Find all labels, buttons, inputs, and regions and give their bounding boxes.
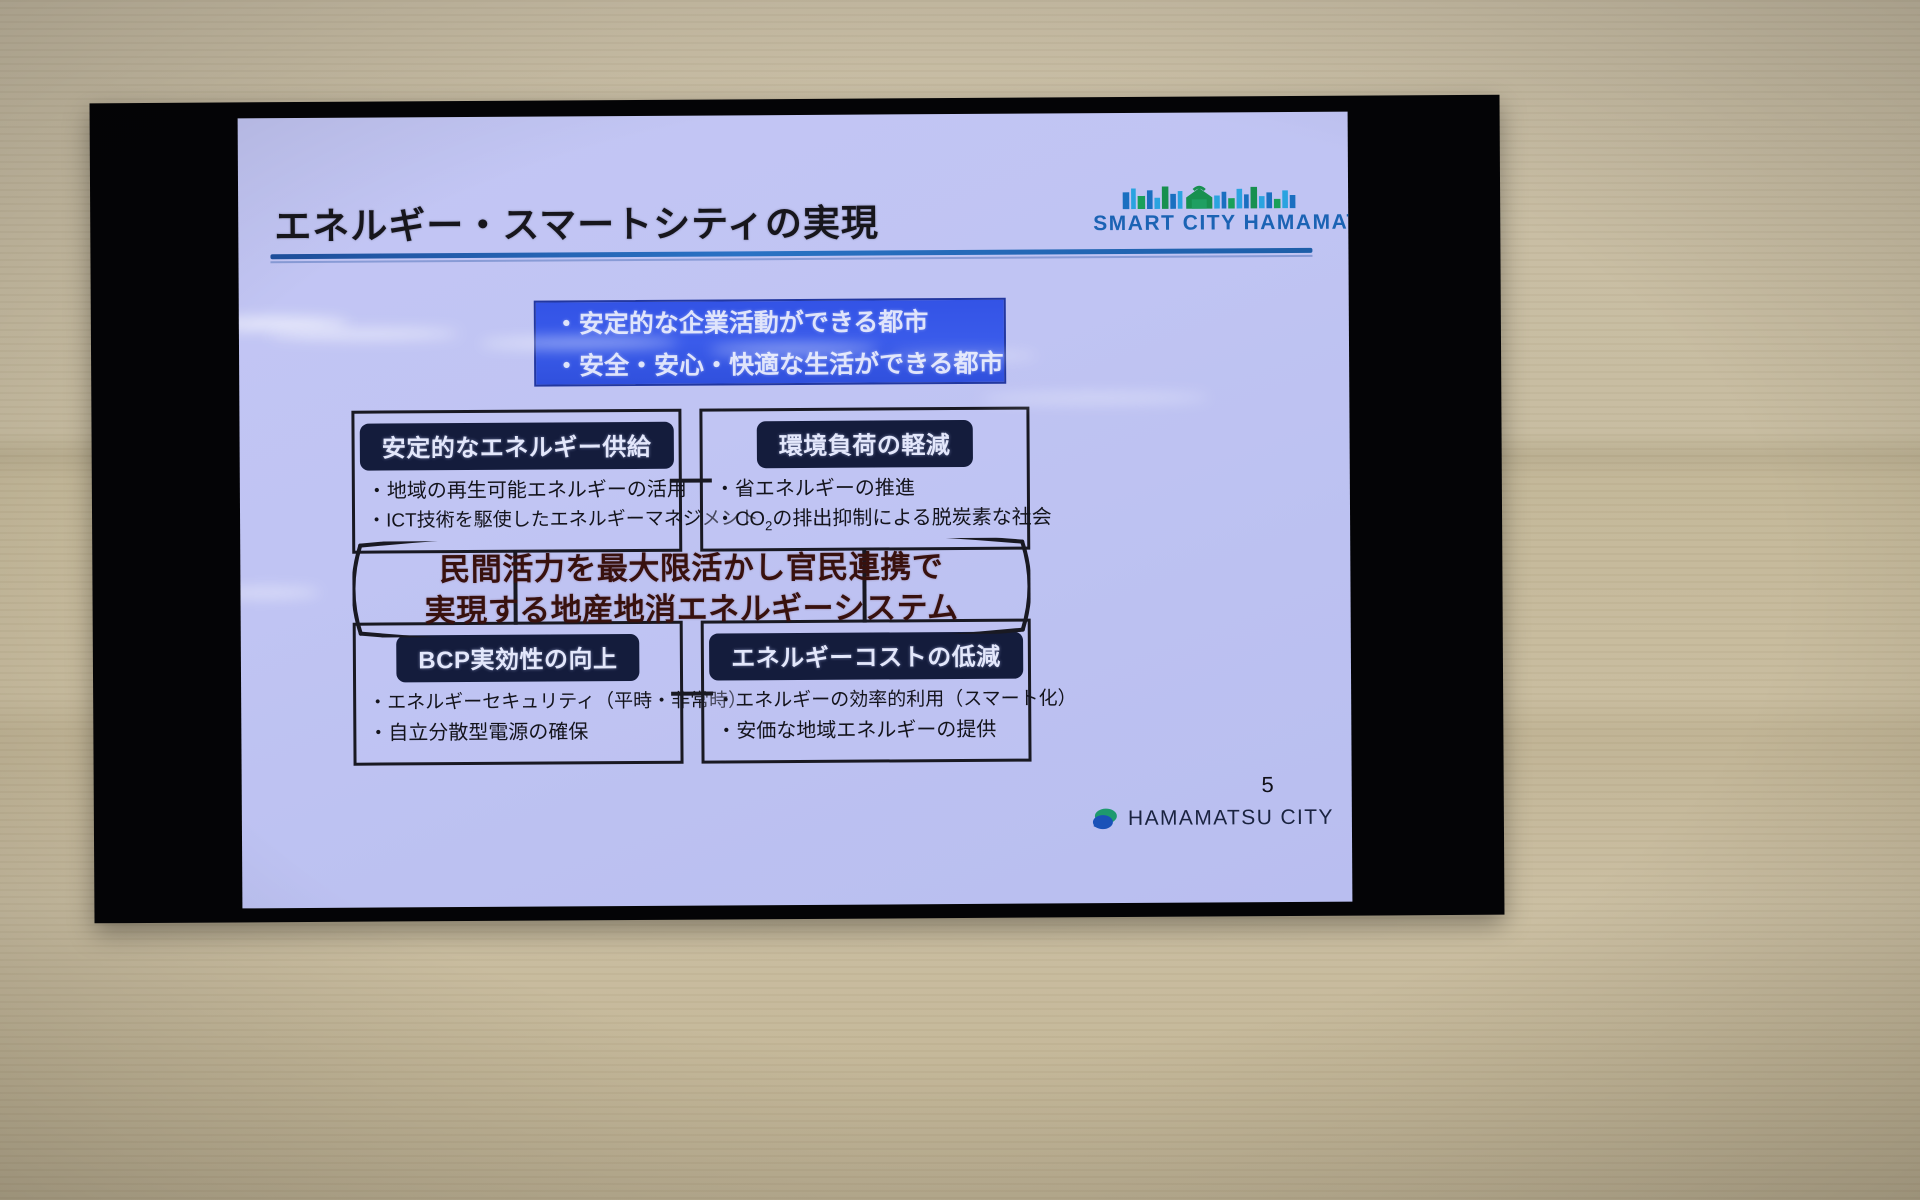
quadrant-heading: BCP実効性の向上 — [396, 634, 639, 682]
smart-city-logo-text: SMART CITY HAMAMATSU — [1093, 211, 1328, 236]
quadrant-body: ・エネルギーの効率的利用（スマート化） ・安価な地域エネルギーの提供 — [716, 685, 1020, 747]
bullet-item: ・エネルギーセキュリティ（平時・非常時） — [368, 687, 672, 719]
hamamatsu-city-text: HAMAMATSU CITY — [1128, 806, 1334, 831]
display-screen: エネルギー・スマートシティの実現 — [90, 95, 1505, 924]
bullet-item: ・ICT技術を駆使したエネルギーマネジメント — [367, 505, 671, 537]
bullet-item: ・自立分散型電源の確保 — [368, 717, 672, 749]
hamamatsu-city-footer-logo: HAMAMATSU CITY — [1091, 806, 1334, 831]
center-line-2: 実現する地産地消エネルギーシステム — [352, 587, 1030, 632]
screen-glare — [238, 588, 321, 598]
bullet-item: ・CO2の排出抑制による脱炭素な社会 — [715, 503, 1019, 542]
center-statement-text: 民間活力を最大限活かし官民連携で 実現する地産地消エネルギーシステム — [352, 546, 1030, 632]
connector-bottom-horizontal — [671, 692, 713, 696]
photograph-of-projected-slide: エネルギー・スマートシティの実現 — [0, 0, 1920, 1200]
quadrant-stable-energy-supply: 安定的なエネルギー供給 ・地域の再生可能エネルギーの活用 ・ICT技術を駆使した… — [351, 409, 682, 554]
banner-line-1: ・安定的な企業活動ができる都市 — [554, 301, 1004, 346]
banner-line-2: ・安全・安心・快適な生活ができる都市 — [554, 343, 1004, 388]
vision-banner: ・安定的な企業活動ができる都市 ・安全・安心・快適な生活ができる都市 — [534, 298, 1007, 387]
center-line-1: 民間活力を最大限活かし官民連携で — [352, 546, 1030, 591]
quadrant-energy-cost-reduction: エネルギーコストの低減 ・エネルギーの効率的利用（スマート化） ・安価な地域エネ… — [701, 619, 1032, 764]
page-title: エネルギー・スマートシティの実現 — [274, 192, 879, 250]
quadrant-body: ・省エネルギーの推進 ・CO2の排出抑制による脱炭素な社会 — [715, 473, 1019, 542]
bullet-item: ・安価な地域エネルギーの提供 — [716, 715, 1020, 747]
screen-glare — [269, 329, 459, 339]
quadrant-body: ・エネルギーセキュリティ（平時・非常時） ・自立分散型電源の確保 — [368, 687, 672, 749]
connector-top-horizontal — [670, 479, 712, 483]
page-number: 5 — [1261, 772, 1273, 798]
center-statement: 民間活力を最大限活かし官民連携で 実現する地産地消エネルギーシステム — [352, 538, 1031, 638]
quadrant-bcp-effectiveness: BCP実効性の向上 ・エネルギーセキュリティ（平時・非常時） ・自立分散型電源の… — [353, 621, 684, 766]
hamamatsu-emblem-icon — [1091, 807, 1119, 831]
screen-glare — [238, 318, 349, 330]
bullet-item: ・省エネルギーの推進 — [715, 473, 1019, 505]
quadrant-heading: エネルギーコストの低減 — [709, 632, 1023, 681]
quadrant-body: ・地域の再生可能エネルギーの活用 ・ICT技術を駆使したエネルギーマネジメント — [367, 475, 671, 537]
screen-glare — [979, 392, 1209, 403]
quadrant-environmental-load-reduction: 環境負荷の軽減 ・省エネルギーの推進 ・CO2の排出抑制による脱炭素な社会 — [699, 407, 1030, 552]
city-skyline-icon — [1117, 182, 1304, 211]
bullet-item: ・エネルギーの効率的利用（スマート化） — [716, 685, 1020, 717]
bullet-item: ・地域の再生可能エネルギーの活用 — [367, 475, 671, 507]
quadrant-heading: 環境負荷の軽減 — [757, 420, 973, 468]
smart-city-logo: SMART CITY HAMAMATSU — [1093, 182, 1328, 236]
quadrant-heading: 安定的なエネルギー供給 — [360, 422, 674, 471]
presentation-slide: エネルギー・スマートシティの実現 — [238, 112, 1353, 909]
